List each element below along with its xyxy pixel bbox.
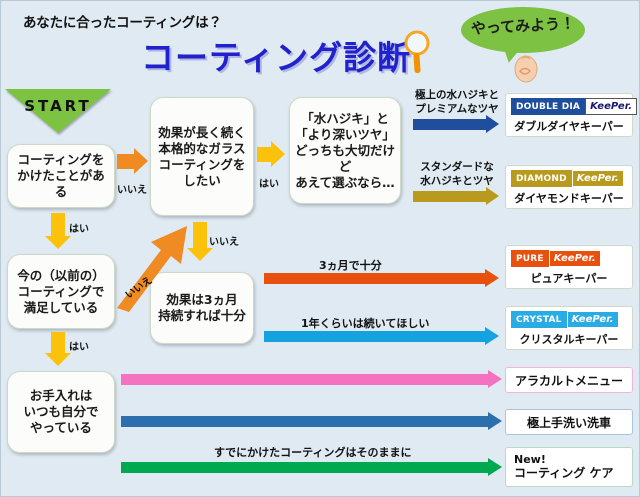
result-card-label: 極上手洗い洗車 [527, 414, 611, 431]
question-text: お手入れはいつも自分でやっている [23, 388, 98, 436]
result-label-standard: スタンダードな 水ハジキとツヤ [409, 161, 505, 188]
product-name: ダブルダイヤキーパー [511, 118, 627, 134]
product-card-double-dia[interactable]: DOUBLE DIA KeePer. ダブルダイヤキーパー [505, 93, 633, 137]
result-card-label: コーティング ケア [514, 466, 613, 481]
branch-label-q1-yes: はい [69, 220, 89, 235]
page-title: コーティング診断 [141, 31, 411, 79]
logo-row: CRYSTAL KeePer. [511, 311, 627, 328]
coating-diagnosis-flowchart: あなたに合ったコーティングは？ コーティング診断 やってみよう！ START コ… [0, 0, 640, 497]
brand-label: DIAMOND [511, 170, 572, 187]
question-box-self-care[interactable]: お手入れはいつも自分でやっている [7, 371, 115, 453]
question-box-glass-coating[interactable]: 効果が長く続く本格的なガラスコーティングをしたい [150, 97, 254, 216]
product-card-pure[interactable]: PURE KeePer. ピュアキーパー [505, 245, 633, 289]
keeper-logo: KeePer. [567, 311, 619, 328]
bar-label-three-months: 3ヵ月で十分 [319, 257, 382, 273]
question-box-coating-experience[interactable]: コーティングをかけたことがある [7, 144, 115, 208]
brand-label: DOUBLE DIA [511, 98, 585, 115]
logo-row: PURE KeePer. [511, 250, 627, 267]
result-card-label: アラカルトメニュー [515, 372, 623, 389]
question-box-satisfied[interactable]: 今の（以前の）コーティングで満足している [7, 254, 115, 329]
logo-row: DOUBLE DIA KeePer. [511, 98, 627, 115]
result-label-premium: 極上の水ハジキと プレミアムなツヤ [409, 89, 505, 116]
page-subtitle: あなたに合ったコーティングは？ [23, 11, 222, 31]
keeper-logo: KeePer. [585, 98, 637, 115]
question-text: 「水ハジキ」と「より深いツヤ」どっちも大切だけどあえて選ぶなら… [294, 111, 396, 191]
keeper-logo: KeePer. [572, 170, 624, 187]
bar-label-one-year: 1年くらいは続いてほしい [301, 315, 429, 331]
branch-label-q2-yes: はい [259, 175, 279, 190]
new-tag: New! [514, 453, 546, 467]
question-text: 効果が長く続く本格的なガラスコーティングをしたい [158, 125, 246, 189]
result-card-coating-care[interactable]: New! コーティング ケア [505, 447, 633, 487]
brand-label: PURE [511, 250, 549, 267]
start-label: START [5, 97, 111, 115]
question-box-water-repel-vs-gloss[interactable]: 「水ハジキ」と「より深いツヤ」どっちも大切だけどあえて選ぶなら… [289, 97, 401, 204]
branch-label-q5-yes: はい [69, 338, 89, 353]
product-card-diamond[interactable]: DIAMOND KeePer. ダイヤモンドキーパー [505, 165, 633, 209]
brand-label: CRYSTAL [511, 311, 567, 328]
product-name: クリスタルキーパー [511, 331, 627, 347]
bar-label-keep-existing: すでにかけたコーティングはそのままに [214, 444, 411, 460]
keeper-logo: KeePer. [549, 250, 601, 267]
product-card-crystal[interactable]: CRYSTAL KeePer. クリスタルキーパー [505, 306, 633, 350]
magnifier-icon [399, 29, 435, 75]
product-name: ダイヤモンドキーパー [511, 190, 627, 206]
logo-row: DIAMOND KeePer. [511, 170, 627, 187]
pointing-hand-icon [509, 51, 543, 83]
result-card-handwash[interactable]: 極上手洗い洗車 [505, 409, 633, 435]
product-name: ピュアキーパー [511, 270, 627, 286]
branch-label-q2-no: いいえ [209, 233, 239, 248]
result-card-alacarte[interactable]: アラカルトメニュー [505, 367, 633, 393]
question-text: コーティングをかけたことがある [12, 152, 110, 200]
branch-label-q1-no: いいえ [117, 181, 147, 196]
arrow-q5-to-q2 [111, 216, 193, 312]
question-text: 今の（以前の）コーティングで満足している [17, 268, 105, 316]
